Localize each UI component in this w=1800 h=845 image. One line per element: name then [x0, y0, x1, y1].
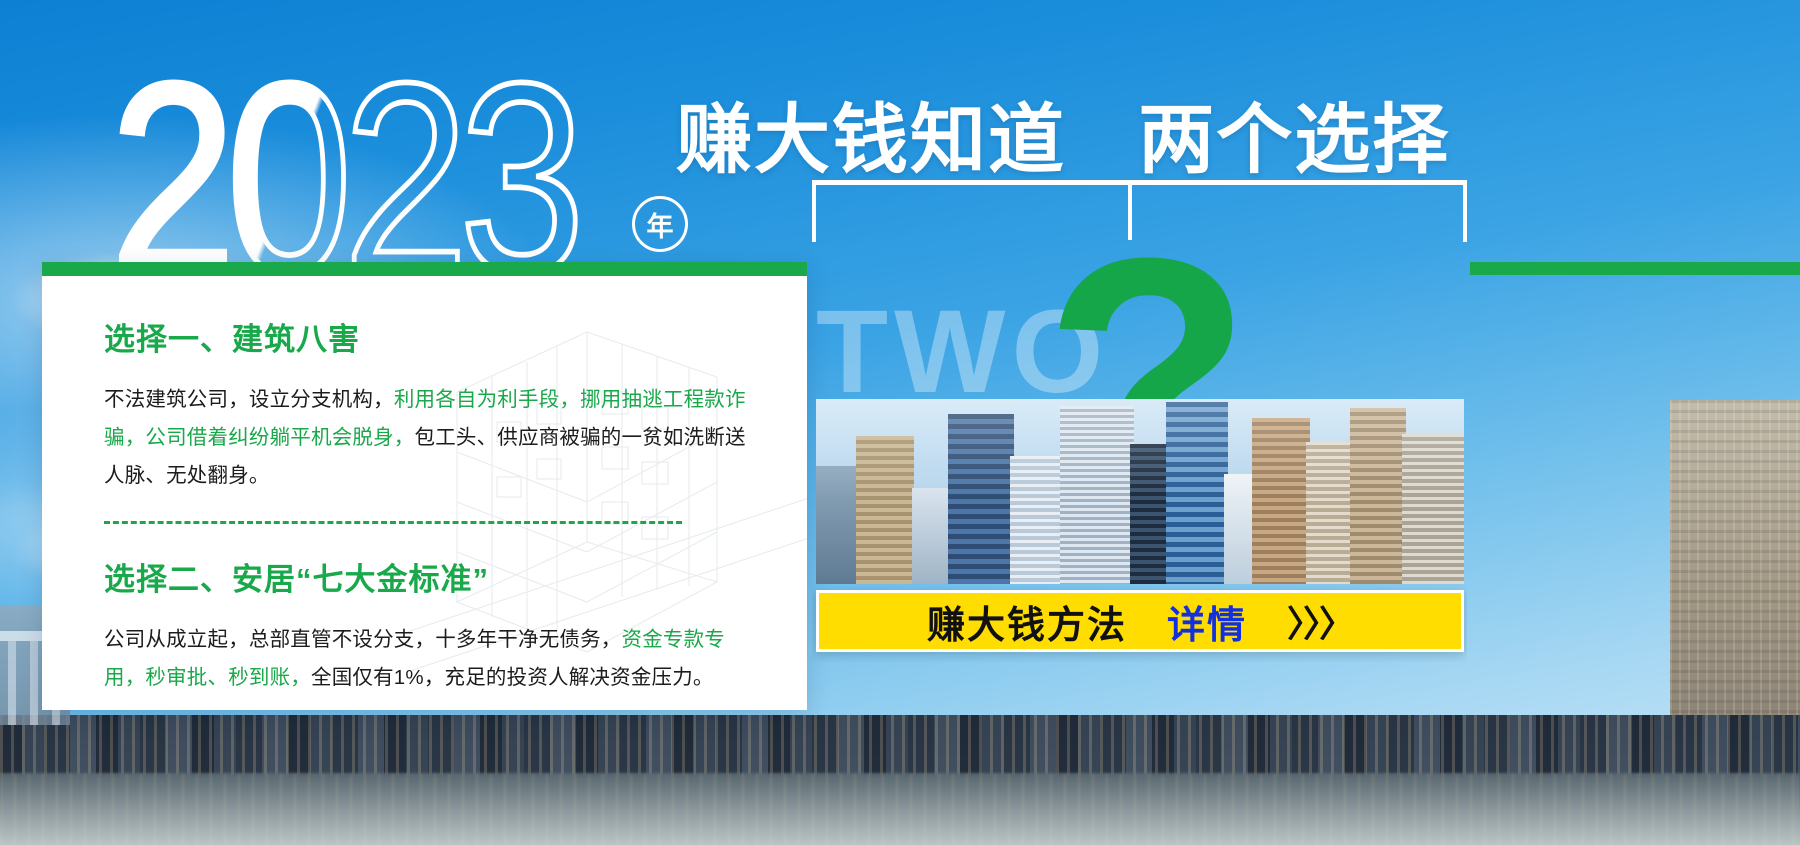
bottom-cityscape-strip	[0, 715, 1800, 845]
section-2-text-a: 公司从成立起，总部直管不设分支，十多年干净无债务，	[104, 628, 622, 651]
section-1-title: 选择一、建筑八害	[104, 314, 754, 359]
right-cityscape-decoration	[1670, 400, 1800, 720]
section-2-body: 公司从成立起，总部直管不设分支，十多年干净无债务，资金专款专用，秒审批、秒到账，…	[104, 621, 754, 697]
right-visual-panel: TWO CHOICES ? 赚大钱方法 详情 〉〉〉	[812, 182, 1467, 662]
card-section-2: 选择二、安居“七大金标准” 公司从成立起，总部直管不设分支，十多年干净无债务，资…	[104, 554, 754, 697]
cityscape-photo	[816, 399, 1464, 584]
headline-part-1: 赚大钱知道	[676, 98, 1066, 183]
panel-frame-right	[1463, 182, 1467, 242]
banner-canvas: 2023 2023 年 赚大钱知道 两个选择	[0, 0, 1800, 845]
year-unit-badge: 年	[632, 196, 688, 252]
section-1-text-a: 不法建筑公司，设立分支机构，	[104, 388, 394, 411]
section-1-body: 不法建筑公司，设立分支机构，利用各自为利手段，挪用抽逃工程款诈骗，公司借着纠纷躺…	[104, 381, 754, 495]
panel-frame-left	[812, 182, 816, 242]
section-divider	[104, 521, 682, 524]
green-accent-bar	[1470, 262, 1800, 275]
headline-part-2: 两个选择	[1138, 98, 1450, 183]
cta-detail-label: 详情	[1167, 594, 1247, 649]
cta-main-label: 赚大钱方法	[927, 594, 1127, 649]
cta-button[interactable]: 赚大钱方法 详情 〉〉〉	[816, 590, 1464, 652]
card-section-1: 选择一、建筑八害 不法建筑公司，设立分支机构，利用各自为利手段，挪用抽逃工程款诈…	[104, 314, 754, 495]
section-2-text-c: 全国仅有1%，充足的投资人解决资金压力。	[311, 666, 714, 689]
card-content: 选择一、建筑八害 不法建筑公司，设立分支机构，利用各自为利手段，挪用抽逃工程款诈…	[104, 314, 754, 697]
content-card: 选择一、建筑八害 不法建筑公司，设立分支机构，利用各自为利手段，挪用抽逃工程款诈…	[42, 262, 807, 710]
page-title: 赚大钱知道 两个选择	[676, 78, 1450, 188]
chevron-right-icon: 〉〉〉	[1287, 595, 1353, 647]
section-2-title: 选择二、安居“七大金标准”	[104, 554, 754, 599]
